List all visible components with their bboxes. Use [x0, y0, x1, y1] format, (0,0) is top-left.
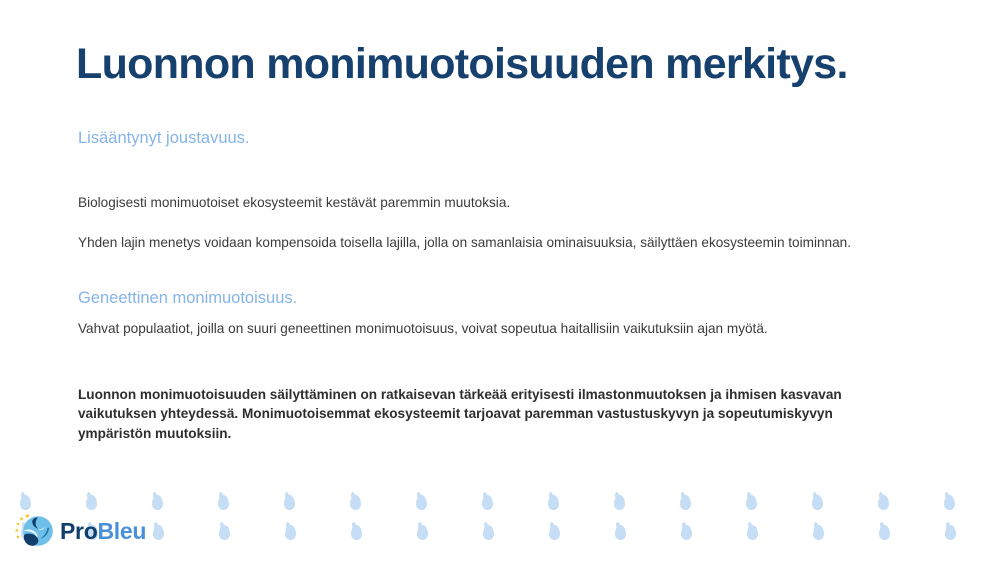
water-drop-icon: [417, 525, 428, 540]
section-paragraph: Vahvat populaatiot, joilla on suuri gene…: [78, 319, 868, 338]
water-drop-icon: [284, 495, 295, 510]
slide-content: Lisääntynyt joustavuus. Biologisesti mon…: [78, 128, 868, 444]
water-drop-icon: [944, 495, 955, 510]
water-drop-icon: [812, 495, 823, 510]
water-drop-icon: [153, 525, 164, 540]
presentation-slide: Luonnon monimuotoisuuden merkitys. Lisää…: [0, 0, 1000, 563]
water-drop-icon: [20, 495, 31, 510]
probleu-globe-swirl-icon: [14, 511, 54, 551]
water-drop-icon: [746, 495, 757, 510]
water-drop-icon: [416, 495, 427, 510]
water-drop-icon: [681, 525, 692, 540]
water-drop-icon: [878, 495, 889, 510]
water-drop-icon: [549, 525, 560, 540]
probleu-logo: ProBleu: [14, 509, 146, 553]
logo-wordmark: ProBleu: [60, 520, 146, 543]
section-heading-flexibility: Lisääntynyt joustavuus.: [78, 128, 868, 149]
water-drop-icon: [614, 495, 625, 510]
water-drop-icon: [285, 525, 296, 540]
slide-footer: ProBleu: [0, 483, 1000, 563]
water-drop-icon: [548, 495, 559, 510]
water-drop-icon: [218, 495, 229, 510]
water-drop-icon: [219, 525, 230, 540]
water-drop-icon: [482, 495, 493, 510]
water-drop-icon: [879, 525, 890, 540]
water-drop-icon: [680, 495, 691, 510]
section-paragraph: Yhden lajin menetys voidaan kompensoida …: [78, 233, 868, 252]
water-drop-icon: [813, 525, 824, 540]
section-heading-genetic-diversity: Geneettinen monimuotoisuus.: [78, 288, 868, 309]
logo-word-bleu: Bleu: [97, 518, 146, 544]
conclusion-paragraph: Luonnon monimuotoisuuden säilyttäminen o…: [78, 385, 868, 444]
water-drop-icon: [483, 525, 494, 540]
water-drop-icon: [351, 525, 362, 540]
water-drop-icon: [747, 525, 758, 540]
page-title: Luonnon monimuotoisuuden merkitys.: [76, 40, 848, 88]
water-drop-icon: [350, 495, 361, 510]
section-paragraph: Biologisesti monimuotoiset ekosysteemit …: [78, 193, 868, 212]
water-drop-icon: [86, 495, 97, 510]
water-drop-icon: [615, 525, 626, 540]
logo-word-pro: Pro: [60, 518, 97, 544]
water-drop-pattern: [0, 483, 1000, 563]
water-drop-icon: [152, 495, 163, 510]
water-drop-icon: [945, 525, 956, 540]
